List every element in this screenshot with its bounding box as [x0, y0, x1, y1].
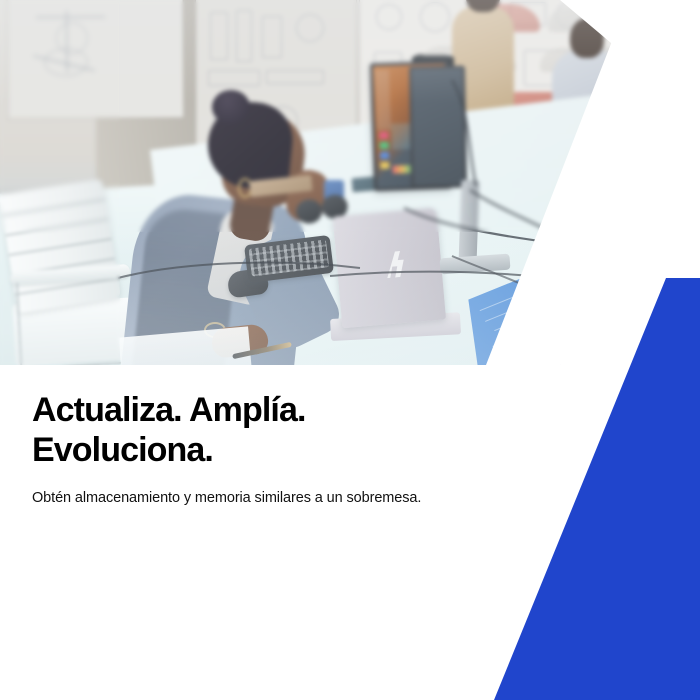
- car-sketch: [604, 96, 688, 124]
- promo-text-block: Actualiza. Amplía. Evoluciona. Obtén alm…: [32, 390, 472, 509]
- hp-promo-banner: Actualiza. Amplía. Evoluciona. Obtén alm…: [0, 0, 700, 700]
- promo-subtitle: Obtén almacenamiento y memoria similares…: [32, 488, 452, 509]
- hero-photo-scene: [0, 0, 700, 365]
- hero-photo: [0, 0, 700, 365]
- page-title: Actualiza. Amplía. Evoluciona.: [32, 390, 472, 470]
- desk-cables: [0, 0, 700, 365]
